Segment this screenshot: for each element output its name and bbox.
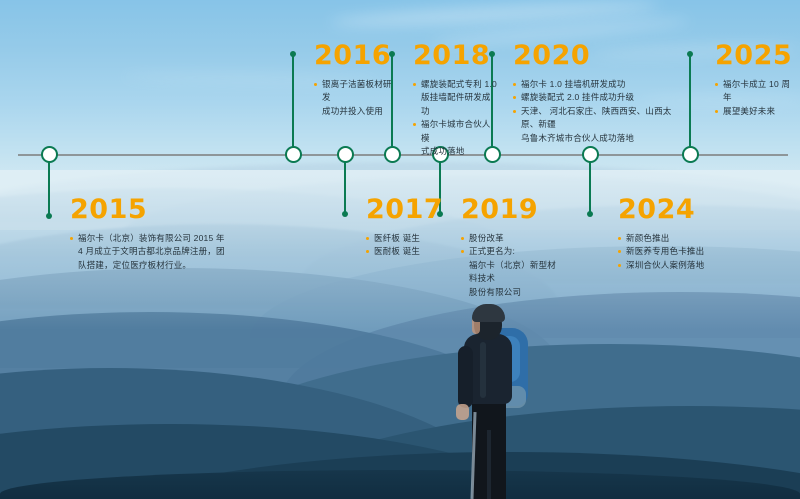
event-list-2025: 福尔卡成立 10 周年展望美好未来 bbox=[715, 78, 797, 118]
timeline-stem-2017 bbox=[344, 156, 346, 214]
timeline-entry-2017: 2017医纤板 诞生医耐板 诞生 bbox=[348, 196, 458, 259]
hiker-figure bbox=[430, 300, 560, 499]
event-item: 新医养专用色卡推出 bbox=[618, 245, 740, 258]
event-item: 展望美好未来 bbox=[715, 105, 797, 118]
event-list-2016: 银离子洁菌板材研发 成功并投入使用 bbox=[314, 78, 400, 118]
event-item: 新颜色推出 bbox=[618, 232, 740, 245]
event-item: 螺旋装配式专利 1.0 版挂墙配件研发成功 bbox=[413, 78, 499, 118]
stem-cap-dot bbox=[587, 211, 593, 217]
event-item: 正式更名为: 福尔卡（北京）新型材料技术 股份有限公司 bbox=[461, 245, 563, 299]
event-list-2020: 福尔卡 1.0 挂墙机研发成功螺旋装配式 2.0 挂件成功升级天津、 河北石家庄… bbox=[513, 78, 681, 145]
timeline-node-2015[interactable] bbox=[41, 146, 58, 163]
event-item: 福尔卡（北京）装饰有限公司 2015 年 4 月成立于文明古都北京品牌注册，团 … bbox=[70, 232, 252, 272]
event-list-2015: 福尔卡（北京）装饰有限公司 2015 年 4 月成立于文明古都北京品牌注册，团 … bbox=[70, 232, 252, 272]
timeline-entry-2020: 2020福尔卡 1.0 挂墙机研发成功螺旋装配式 2.0 挂件成功升级天津、 河… bbox=[495, 42, 681, 145]
year-label-2018: 2018 bbox=[413, 42, 499, 69]
event-item: 福尔卡 1.0 挂墙机研发成功 bbox=[513, 78, 681, 91]
timeline-node-2024[interactable] bbox=[582, 146, 599, 163]
year-label-2016: 2016 bbox=[314, 42, 400, 69]
timeline-entry-2024: 2024新颜色推出新医养专用色卡推出深圳合伙人案例落地 bbox=[600, 196, 740, 272]
event-list-2019: 股份改革正式更名为: 福尔卡（北京）新型材料技术 股份有限公司 bbox=[461, 232, 563, 299]
event-item: 螺旋装配式 2.0 挂件成功升级 bbox=[513, 91, 681, 104]
timeline-stem-2015 bbox=[48, 156, 50, 216]
timeline-entry-2016: 2016银离子洁菌板材研发 成功并投入使用 bbox=[296, 42, 400, 118]
event-item: 福尔卡成立 10 周年 bbox=[715, 78, 797, 105]
stem-cap-dot bbox=[687, 51, 693, 57]
timeline-entry-2025: 2025福尔卡成立 10 周年展望美好未来 bbox=[697, 42, 797, 118]
event-item: 银离子洁菌板材研发 成功并投入使用 bbox=[314, 78, 400, 118]
year-label-2020: 2020 bbox=[513, 42, 681, 69]
timeline-infographic: 2015福尔卡（北京）装饰有限公司 2015 年 4 月成立于文明古都北京品牌注… bbox=[0, 0, 800, 499]
event-list-2018: 螺旋装配式专利 1.0 版挂墙配件研发成功福尔卡城市合伙人模 式成功落地 bbox=[413, 78, 499, 159]
timeline-stem-2024 bbox=[589, 156, 591, 214]
timeline-stem-2025 bbox=[689, 54, 691, 154]
timeline-entry-2015: 2015福尔卡（北京）装饰有限公司 2015 年 4 月成立于文明古都北京品牌注… bbox=[52, 196, 252, 272]
event-item: 股份改革 bbox=[461, 232, 563, 245]
timeline-node-2017[interactable] bbox=[337, 146, 354, 163]
timeline-entry-2019: 2019股份改革正式更名为: 福尔卡（北京）新型材料技术 股份有限公司 bbox=[443, 196, 563, 299]
timeline-node-2025[interactable] bbox=[682, 146, 699, 163]
event-item: 深圳合伙人案例落地 bbox=[618, 259, 740, 272]
year-label-2015: 2015 bbox=[70, 196, 252, 223]
event-item: 福尔卡城市合伙人模 式成功落地 bbox=[413, 118, 499, 158]
event-list-2024: 新颜色推出新医养专用色卡推出深圳合伙人案例落地 bbox=[618, 232, 740, 272]
timeline-entry-2018: 2018螺旋装配式专利 1.0 版挂墙配件研发成功福尔卡城市合伙人模 式成功落地 bbox=[395, 42, 499, 159]
timeline-stem-2016 bbox=[292, 54, 294, 154]
event-item: 天津、 河北石家庄、陕西西安、山西太原、新疆 乌鲁木齐城市合伙人成功落地 bbox=[513, 105, 681, 145]
year-label-2024: 2024 bbox=[618, 196, 740, 223]
year-label-2025: 2025 bbox=[715, 42, 797, 69]
year-label-2019: 2019 bbox=[461, 196, 563, 223]
timeline-node-2016[interactable] bbox=[285, 146, 302, 163]
